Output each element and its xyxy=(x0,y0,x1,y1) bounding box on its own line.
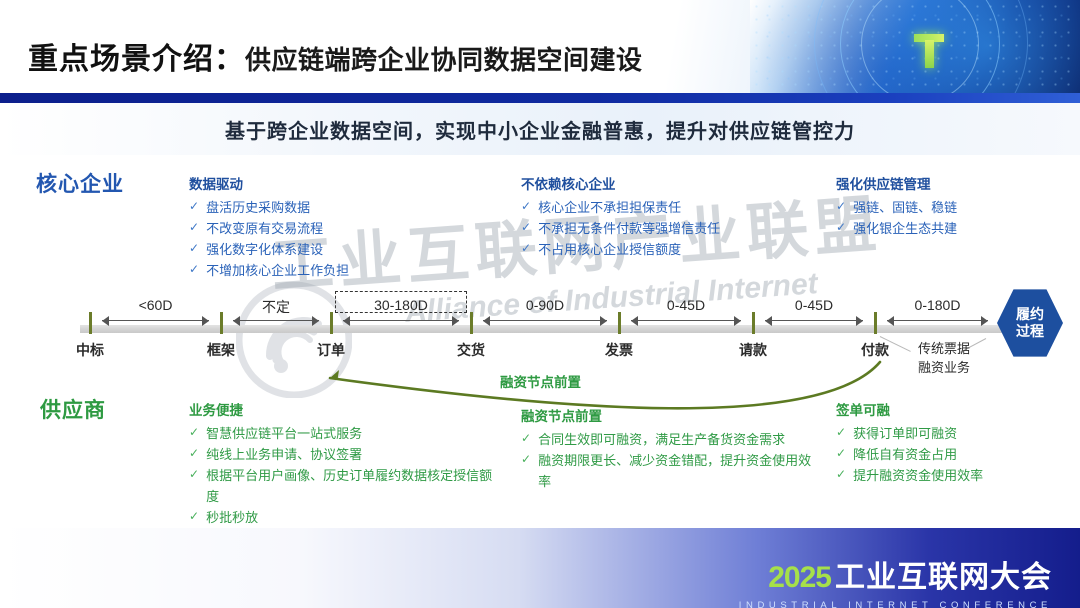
list-item: ✓强化银企生态共建 xyxy=(836,218,1066,239)
check-icon: ✓ xyxy=(836,465,846,484)
list-item-text: 强化银企生态共建 xyxy=(853,218,957,239)
arrow-head-left-icon xyxy=(102,316,109,326)
timeline-span-label: <60D xyxy=(139,297,173,313)
list-item: ✓不改变原有交易流程 xyxy=(189,218,489,239)
check-icon: ✓ xyxy=(189,465,199,484)
arrow-line xyxy=(102,320,209,321)
conference-name-cn: 工业互联网大会 xyxy=(835,552,1052,596)
block-heading: 不依赖核心企业 xyxy=(521,173,821,193)
list-item: ✓根据平台用户画像、历史订单履约数据核定授信额度 xyxy=(189,465,501,507)
timeline-highlight-box xyxy=(335,291,467,313)
arrow-line xyxy=(887,320,988,321)
check-icon: ✓ xyxy=(836,197,846,216)
timeline-node-label: 订单 xyxy=(317,340,345,360)
timeline-span-label: 0-45D xyxy=(795,297,833,313)
header-divider xyxy=(0,93,1080,103)
list-item: ✓不承担无条件付款等强增信责任 xyxy=(521,218,821,239)
arrow-head-right-icon xyxy=(202,316,209,326)
check-icon: ✓ xyxy=(189,260,199,279)
timeline-span-label: 不定 xyxy=(262,297,290,317)
block-heading: 业务便捷 xyxy=(189,399,501,419)
timeline-end-badge: 履约 过程 xyxy=(997,288,1063,358)
list-item-text: 提升融资资金使用效率 xyxy=(853,465,983,486)
supplier-block-order-financing: 签单可融 ✓获得订单即可融资 ✓降低自有资金占用 ✓提升融资资金使用效率 xyxy=(836,399,1066,486)
timeline-span-arrow xyxy=(343,316,459,326)
list-item-text: 合同生效即可融资，满足生产备货资金需求 xyxy=(538,429,785,450)
block-list: ✓获得订单即可融资 ✓降低自有资金占用 ✓提升融资资金使用效率 xyxy=(836,423,1066,486)
check-icon: ✓ xyxy=(836,444,846,463)
core-block-supply-chain-mgmt: 强化供应链管理 ✓强链、固链、稳链 ✓强化银企生态共建 xyxy=(836,173,1066,239)
subtitle-banner: 基于跨企业数据空间，实现中小企业金融普惠，提升对供应链管控力 xyxy=(0,103,1080,155)
check-icon: ✓ xyxy=(189,239,199,258)
supplier-block-convenience: 业务便捷 ✓智慧供应链平台一站式服务 ✓纯线上业务申请、协议签署 ✓根据平台用户… xyxy=(189,399,501,549)
list-item: ✓获得订单即可融资 xyxy=(836,423,1066,444)
arrow-head-left-icon xyxy=(233,316,240,326)
core-block-data-driven: 数据驱动 ✓盘活历史采购数据 ✓不改变原有交易流程 ✓强化数字化体系建设 ✓不增… xyxy=(189,173,489,281)
timeline-node-label: 发票 xyxy=(605,340,633,360)
arrow-head-left-icon xyxy=(887,316,894,326)
subtitle-banner-text: 基于跨企业数据空间，实现中小企业金融普惠，提升对供应链管控力 xyxy=(0,115,1080,144)
list-item-text: 秒批秒放 xyxy=(206,507,258,528)
timeline-tick xyxy=(330,312,333,334)
arrow-head-right-icon xyxy=(981,316,988,326)
conference-logo: 2025 工业互联网大会 INDUSTRIAL INTERNET CONFERE… xyxy=(739,552,1052,608)
list-item-text: 不改变原有交易流程 xyxy=(206,218,323,239)
curve-annotation-label: 融资节点前置 xyxy=(500,371,581,391)
timeline-span-arrow xyxy=(631,316,741,326)
block-heading: 强化供应链管理 xyxy=(836,173,1066,193)
page-title: 重点场景介绍：供应链端跨企业协同数据空间建设 xyxy=(28,34,643,78)
page-title-sub: 供应链端跨企业协同数据空间建设 xyxy=(245,45,643,75)
check-icon: ✓ xyxy=(189,218,199,237)
arrow-head-left-icon xyxy=(765,316,772,326)
list-item: ✓降低自有资金占用 xyxy=(836,444,1066,465)
timeline-node-label: 付款 xyxy=(861,340,889,360)
list-item: ✓合同生效即可融资，满足生产备货资金需求 xyxy=(521,429,821,450)
list-item-text: 不增加核心企业工作负担 xyxy=(206,260,349,281)
badge-line-2: 过程 xyxy=(1016,323,1044,340)
list-item-text: 不承担无条件付款等强增信责任 xyxy=(538,218,720,239)
list-item-text: 强链、固链、稳链 xyxy=(853,197,957,218)
arrow-head-right-icon xyxy=(856,316,863,326)
check-icon: ✓ xyxy=(836,218,846,237)
list-item: ✓核心企业不承担担保责任 xyxy=(521,197,821,218)
timeline-node-label: 框架 xyxy=(207,340,235,360)
timeline-span-arrow xyxy=(483,316,607,326)
timeline-node-label: 中标 xyxy=(76,340,104,360)
arrow-head-left-icon xyxy=(343,316,350,326)
list-item: ✓盘活历史采购数据 xyxy=(189,197,489,218)
arrow-head-left-icon xyxy=(631,316,638,326)
role-label-supplier: 供应商 xyxy=(40,394,106,424)
list-item: ✓秒批秒放 xyxy=(189,507,501,528)
block-heading: 签单可融 xyxy=(836,399,1066,419)
list-item-text: 强化数字化体系建设 xyxy=(206,239,323,260)
role-label-core-enterprise: 核心企业 xyxy=(36,168,124,198)
arrow-line xyxy=(631,320,741,321)
check-icon: ✓ xyxy=(521,197,531,216)
page-title-main: 重点场景介绍： xyxy=(28,43,245,76)
list-item-text: 盘活历史采购数据 xyxy=(206,197,310,218)
check-icon: ✓ xyxy=(521,218,531,237)
timeline-span-arrow xyxy=(887,316,988,326)
arrow-head-right-icon xyxy=(312,316,319,326)
arrow-head-left-icon xyxy=(483,316,490,326)
check-icon: ✓ xyxy=(189,507,199,526)
block-heading: 融资节点前置 xyxy=(521,405,821,425)
check-icon: ✓ xyxy=(189,444,199,463)
slide-header: 重点场景介绍：供应链端跨企业协同数据空间建设 xyxy=(0,0,1080,96)
timeline-span-label: 0-180D xyxy=(915,297,961,313)
timeline-node-label: 请款 xyxy=(739,340,767,360)
list-item-text: 获得订单即可融资 xyxy=(853,423,957,444)
core-block-no-dependency: 不依赖核心企业 ✓核心企业不承担担保责任 ✓不承担无条件付款等强增信责任 ✓不占… xyxy=(521,173,821,260)
check-icon: ✓ xyxy=(521,450,531,469)
block-list: ✓核心企业不承担担保责任 ✓不承担无条件付款等强增信责任 ✓不占用核心企业授信额… xyxy=(521,197,821,260)
timeline-tick xyxy=(470,312,473,334)
list-item: ✓融资期限更长、减少资金错配，提升资金使用效率 xyxy=(521,450,821,492)
slide-root: 重点场景介绍：供应链端跨企业协同数据空间建设 基于跨企业数据空间，实现中小企业金… xyxy=(0,0,1080,608)
badge-line-1: 履约 xyxy=(1016,306,1044,323)
list-item-text: 不占用核心企业授信额度 xyxy=(538,239,681,260)
timeline-tick xyxy=(89,312,92,334)
timeline-span-arrow xyxy=(102,316,209,326)
list-item: ✓不占用核心企业授信额度 xyxy=(521,239,821,260)
block-heading: 数据驱动 xyxy=(189,173,489,193)
timeline-span-arrow xyxy=(765,316,863,326)
timeline-tick xyxy=(752,312,755,334)
list-item-text: 纯线上业务申请、协议签署 xyxy=(206,444,362,465)
list-item-text: 根据平台用户画像、历史订单履约数据核定授信额度 xyxy=(206,465,501,507)
block-list: ✓强链、固链、稳链 ✓强化银企生态共建 xyxy=(836,197,1066,239)
list-item-text: 核心企业不承担担保责任 xyxy=(538,197,681,218)
t-mark-icon xyxy=(914,34,944,68)
list-item-text: 降低自有资金占用 xyxy=(853,444,957,465)
trad-note-line-1: 传统票据 xyxy=(918,340,970,359)
traditional-financing-note: 传统票据 融资业务 xyxy=(918,340,970,378)
check-icon: ✓ xyxy=(521,239,531,258)
timeline-span-label: 0-90D xyxy=(526,297,564,313)
list-item: ✓智慧供应链平台一站式服务 xyxy=(189,423,501,444)
list-item: ✓强链、固链、稳链 xyxy=(836,197,1066,218)
list-item: ✓强化数字化体系建设 xyxy=(189,239,489,260)
list-item: ✓提升融资资金使用效率 xyxy=(836,465,1066,486)
arrow-line xyxy=(233,320,319,321)
conference-name-en: INDUSTRIAL INTERNET CONFERENCE xyxy=(739,600,1052,608)
timeline-span-label: 0-45D xyxy=(667,297,705,313)
supplier-block-early-financing: 融资节点前置 ✓合同生效即可融资，满足生产备货资金需求 ✓融资期限更长、减少资金… xyxy=(521,405,821,492)
timeline-span-arrow xyxy=(233,316,319,326)
timeline-tick xyxy=(618,312,621,334)
conference-year: 2025 xyxy=(768,561,831,595)
list-item-text: 融资期限更长、减少资金错配，提升资金使用效率 xyxy=(538,450,821,492)
block-list: ✓合同生效即可融资，满足生产备货资金需求 ✓融资期限更长、减少资金错配，提升资金… xyxy=(521,429,821,492)
list-item: ✓不增加核心企业工作负担 xyxy=(189,260,489,281)
arrow-head-right-icon xyxy=(452,316,459,326)
check-icon: ✓ xyxy=(189,197,199,216)
list-item: ✓纯线上业务申请、协议签署 xyxy=(189,444,501,465)
check-icon: ✓ xyxy=(521,429,531,448)
timeline-tick xyxy=(874,312,877,334)
header-decorative-art xyxy=(750,0,1080,96)
timeline-node-label: 交货 xyxy=(457,340,485,360)
arrow-head-right-icon xyxy=(734,316,741,326)
conference-logo-main: 2025 工业互联网大会 xyxy=(739,552,1052,596)
block-list: ✓盘活历史采购数据 ✓不改变原有交易流程 ✓强化数字化体系建设 ✓不增加核心企业… xyxy=(189,197,489,281)
arrow-line xyxy=(343,320,459,321)
check-icon: ✓ xyxy=(189,423,199,442)
list-item-text: 智慧供应链平台一站式服务 xyxy=(206,423,362,444)
check-icon: ✓ xyxy=(836,423,846,442)
trad-note-line-2: 融资业务 xyxy=(918,359,970,378)
arrow-head-right-icon xyxy=(600,316,607,326)
arrow-line xyxy=(483,320,607,321)
arrow-line xyxy=(765,320,863,321)
timeline-tick xyxy=(220,312,223,334)
